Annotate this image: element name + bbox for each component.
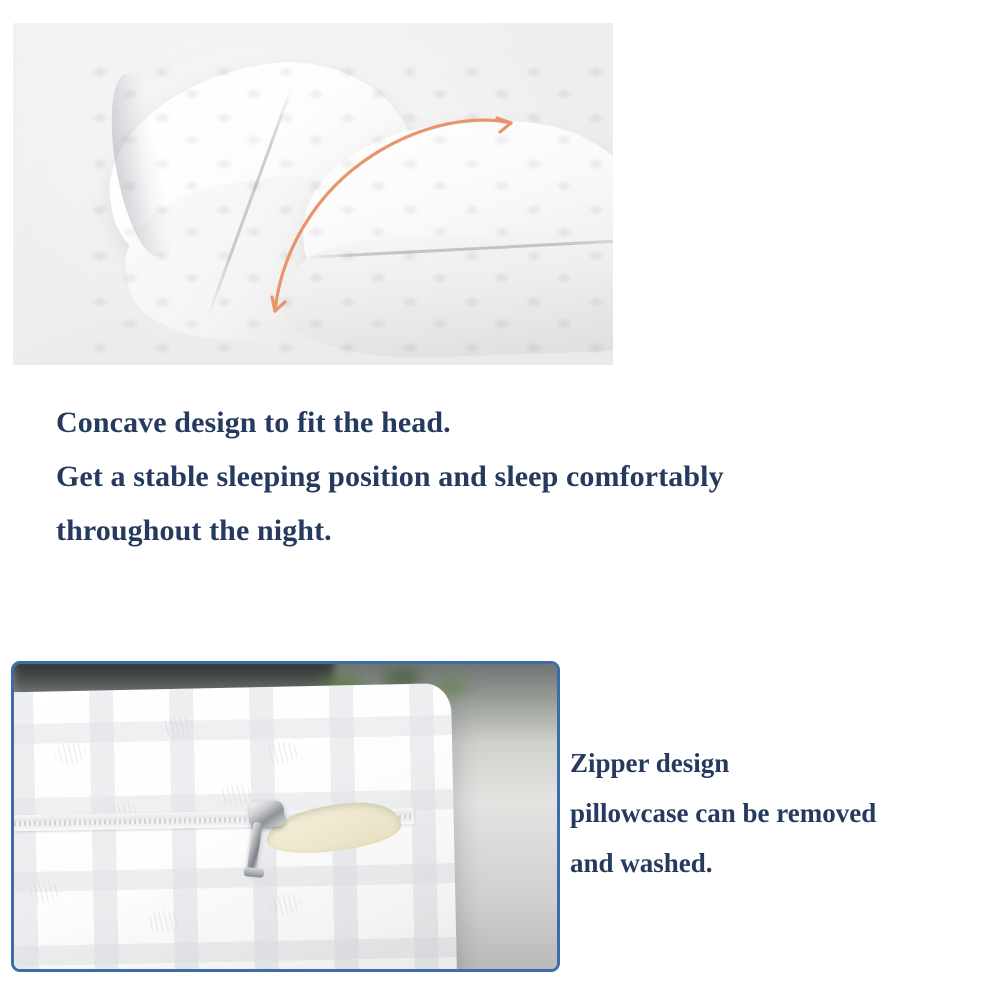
caption-line: and washed. (570, 838, 1000, 888)
pillow-contour-photo (13, 23, 613, 365)
caption-line: throughout the night. (56, 504, 956, 558)
caption-line: pillowcase can be removed (570, 788, 1000, 838)
pillow-object (88, 61, 613, 361)
pillow-zipper-photo (11, 661, 560, 972)
caption-line: Zipper design (570, 738, 1000, 788)
caption-line: Concave design to fit the head. (56, 396, 956, 450)
concave-design-caption: Concave design to fit the head. Get a st… (56, 396, 956, 558)
zipper-pull-foot (244, 867, 265, 878)
product-feature-page: Concave design to fit the head. Get a st… (0, 0, 1000, 1000)
zipper-design-caption: Zipper design pillowcase can be removed … (570, 738, 1000, 888)
caption-line: Get a stable sleeping position and sleep… (56, 450, 956, 504)
